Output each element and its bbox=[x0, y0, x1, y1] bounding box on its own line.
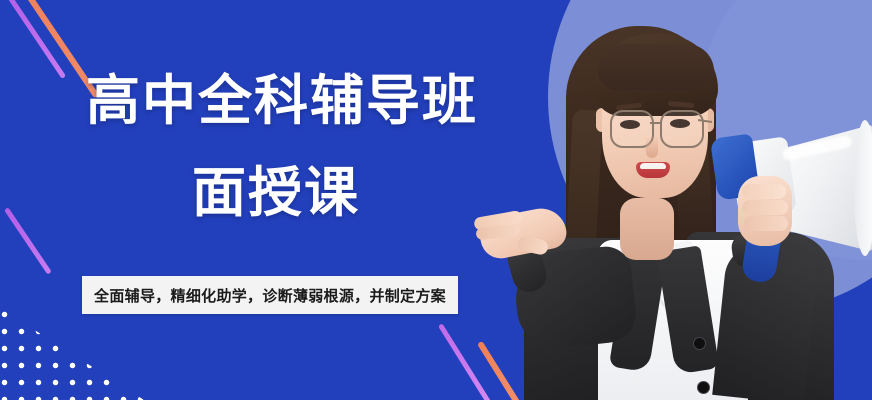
hand-right-finger-top bbox=[742, 184, 786, 199]
glasses-lens-right-icon bbox=[660, 110, 704, 148]
blazer-button-upper bbox=[694, 338, 705, 349]
hair-fringe bbox=[598, 44, 714, 90]
hand-right-finger-mid bbox=[742, 200, 788, 215]
hand-right-finger-bottom bbox=[744, 216, 788, 231]
megaphone-rim bbox=[854, 120, 872, 256]
teeth bbox=[640, 163, 666, 169]
nose bbox=[646, 136, 658, 158]
promo-banner: 高中全科辅导班 面授课 全面辅导，精细化助学，诊断薄弱根源，并制定方案 bbox=[0, 0, 872, 400]
blazer-button-lower bbox=[698, 382, 709, 393]
glasses-bridge-icon bbox=[650, 122, 662, 124]
neck bbox=[620, 198, 674, 260]
banner-text-block: 高中全科辅导班 面授课 全面辅导，精细化助学，诊断薄弱根源，并制定方案 bbox=[0, 0, 520, 400]
subtitle-text: 全面辅导，精细化助学，诊断薄弱根源，并制定方案 bbox=[94, 285, 446, 306]
headline-line-2: 面授课 bbox=[86, 166, 466, 220]
presenter-figure bbox=[470, 0, 872, 400]
headline-line-1: 高中全科辅导班 bbox=[86, 74, 478, 128]
subtitle-box: 全面辅导，精细化助学，诊断薄弱根源，并制定方案 bbox=[82, 276, 458, 314]
